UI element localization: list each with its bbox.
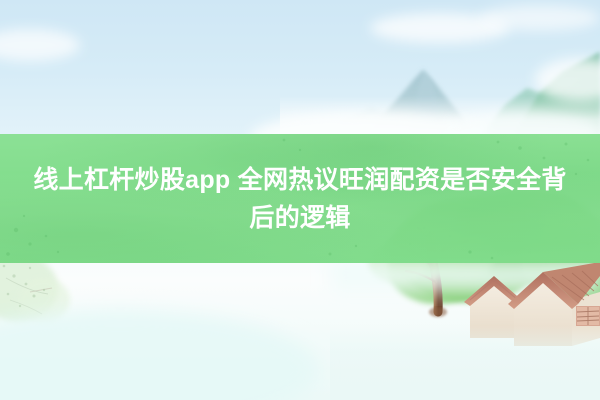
title-line-1: 线上杠杆炒股app 全网热议旺润配资是否安全背: [33, 161, 566, 199]
title-line-2: 后的逻辑: [249, 199, 350, 237]
banner-title: 线上杠杆炒股app 全网热议旺润配资是否安全背 后的逻辑: [0, 134, 600, 263]
left-foliage-sketch: [0, 254, 70, 322]
foreground-haze: [0, 310, 320, 400]
foreground-fade: [330, 326, 600, 400]
landscape-title-banner: 线上杠杆炒股app 全网热议旺润配资是否安全背 后的逻辑: [0, 0, 600, 400]
